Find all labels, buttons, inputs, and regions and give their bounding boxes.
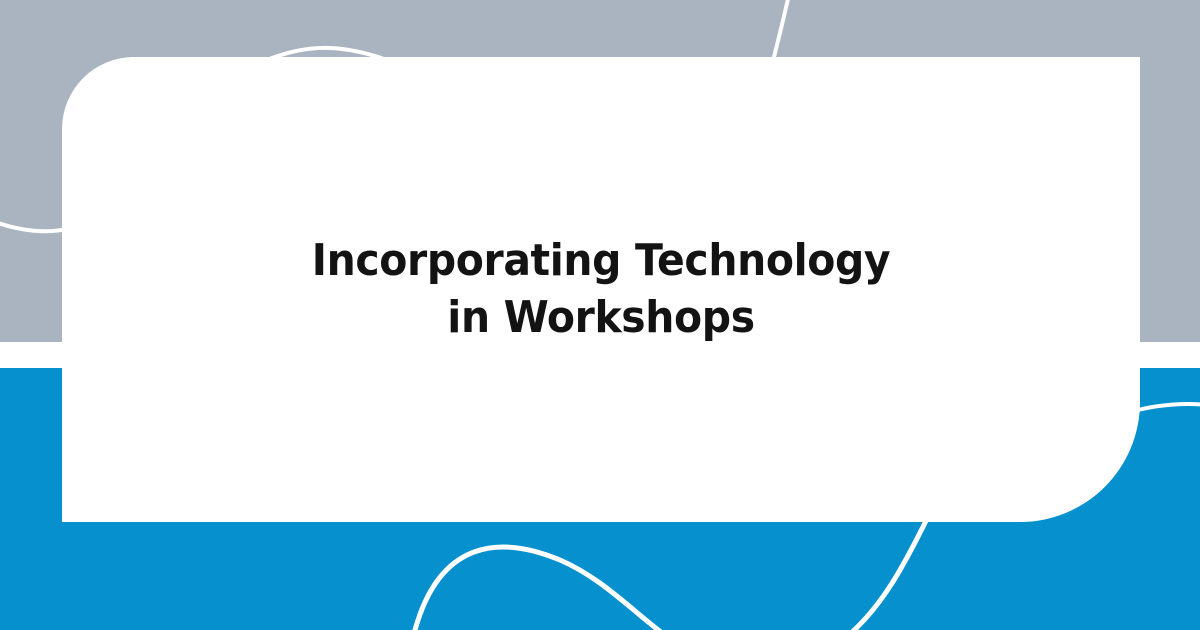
page-title: Incorporating Technology in Workshops [294,233,908,346]
card-inner: Incorporating Technology in Workshops [62,57,1140,522]
banner-canvas: Incorporating Technology in Workshops [0,0,1200,630]
content-card: Incorporating Technology in Workshops [62,57,1140,522]
